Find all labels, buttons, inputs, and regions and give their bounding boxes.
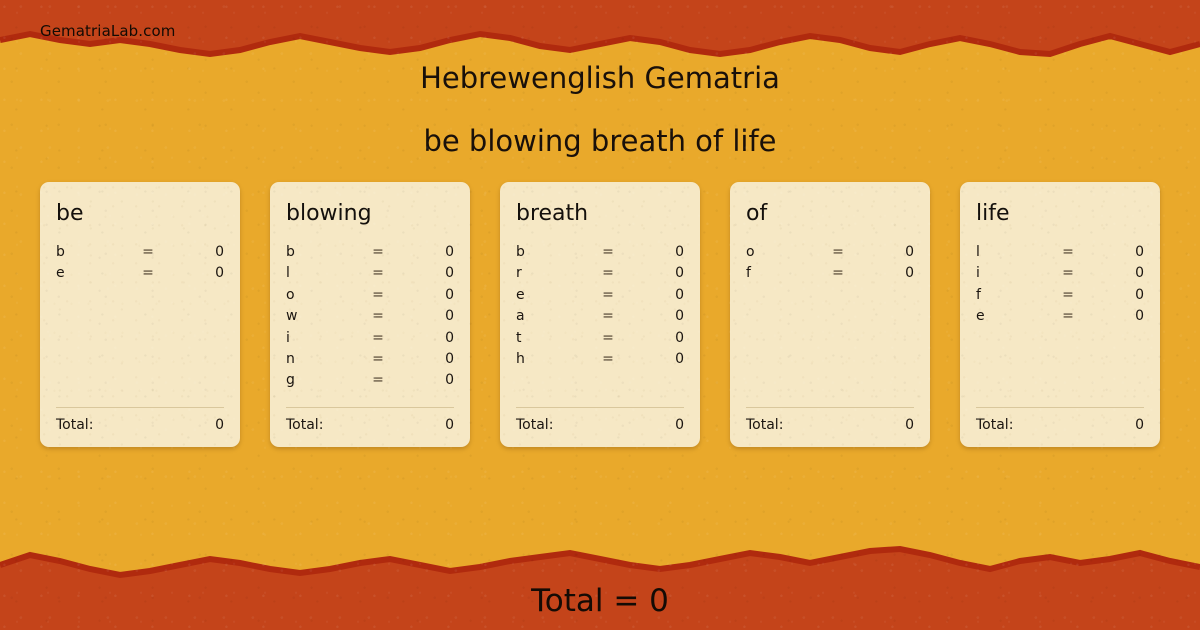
word-card[interactable]: be b = 0 e = 0 Total: 0 xyxy=(40,182,240,447)
letter-row: l = 0 xyxy=(976,244,1144,265)
letter-value: 0 xyxy=(392,244,454,260)
card-total-label: Total: xyxy=(286,417,445,433)
letter-char: a xyxy=(516,308,594,324)
card-word-title: of xyxy=(746,200,914,228)
letter-row: e = 0 xyxy=(976,308,1144,329)
letter-char: i xyxy=(286,330,364,346)
letter-value: 0 xyxy=(622,265,684,281)
card-word-title: blowing xyxy=(286,200,454,228)
letter-char: e xyxy=(516,287,594,303)
word-card[interactable]: breath b = 0 r = 0 e = 0 a = 0 xyxy=(500,182,700,447)
equals-sign: = xyxy=(594,265,622,281)
card-total-value: 0 xyxy=(445,417,454,433)
letter-value: 0 xyxy=(622,287,684,303)
letter-row: o = 0 xyxy=(746,244,914,265)
letter-value: 0 xyxy=(622,308,684,324)
word-card[interactable]: blowing b = 0 l = 0 o = 0 w = 0 xyxy=(270,182,470,447)
letter-row: t = 0 xyxy=(516,330,684,351)
card-divider xyxy=(56,407,224,408)
letter-value: 0 xyxy=(162,244,224,260)
equals-sign: = xyxy=(364,330,392,346)
letter-row: b = 0 xyxy=(286,244,454,265)
equals-sign: = xyxy=(364,308,392,324)
letter-value: 0 xyxy=(1082,308,1144,324)
card-total-row: Total: 0 xyxy=(976,417,1144,433)
letter-value: 0 xyxy=(392,265,454,281)
equals-sign: = xyxy=(134,244,162,260)
equals-sign: = xyxy=(824,265,852,281)
equals-sign: = xyxy=(824,244,852,260)
letter-value: 0 xyxy=(162,265,224,281)
grand-total: Total = 0 xyxy=(0,580,1200,622)
letter-char: o xyxy=(286,287,364,303)
letter-char: w xyxy=(286,308,364,324)
letter-row: f = 0 xyxy=(976,287,1144,308)
letter-row: i = 0 xyxy=(976,265,1144,286)
letter-value: 0 xyxy=(392,351,454,367)
letter-value: 0 xyxy=(1082,287,1144,303)
phrase-subtitle: be blowing breath of life xyxy=(0,119,1200,163)
card-total-label: Total: xyxy=(516,417,675,433)
equals-sign: = xyxy=(594,308,622,324)
letter-char: h xyxy=(516,351,594,367)
card-word-title: breath xyxy=(516,200,684,228)
page-title: Hebrewenglish Gematria xyxy=(0,56,1200,100)
letter-char: g xyxy=(286,372,364,388)
title-block: Hebrewenglish Gematria be blowing breath… xyxy=(0,56,1200,163)
letter-char: f xyxy=(746,265,824,281)
letter-row: b = 0 xyxy=(516,244,684,265)
equals-sign: = xyxy=(364,372,392,388)
equals-sign: = xyxy=(364,287,392,303)
letter-char: n xyxy=(286,351,364,367)
letter-value-list: b = 0 r = 0 e = 0 a = 0 t = 0 xyxy=(516,244,684,401)
letter-row: l = 0 xyxy=(286,265,454,286)
card-total-value: 0 xyxy=(675,417,684,433)
letter-value: 0 xyxy=(622,351,684,367)
card-divider xyxy=(516,407,684,408)
letter-value: 0 xyxy=(622,244,684,260)
card-total-label: Total: xyxy=(56,417,215,433)
card-word-title: life xyxy=(976,200,1144,228)
letter-char: l xyxy=(286,265,364,281)
letter-char: i xyxy=(976,265,1054,281)
letter-value: 0 xyxy=(1082,265,1144,281)
letter-row: e = 0 xyxy=(516,287,684,308)
card-total-value: 0 xyxy=(1135,417,1144,433)
word-card-row: be b = 0 e = 0 Total: 0 blowing b = xyxy=(40,182,1160,447)
letter-row: n = 0 xyxy=(286,351,454,372)
site-brand[interactable]: GematriaLab.com xyxy=(40,22,175,40)
card-total-row: Total: 0 xyxy=(516,417,684,433)
equals-sign: = xyxy=(594,351,622,367)
letter-char: r xyxy=(516,265,594,281)
letter-row: r = 0 xyxy=(516,265,684,286)
letter-row: i = 0 xyxy=(286,330,454,351)
equals-sign: = xyxy=(1054,265,1082,281)
letter-char: t xyxy=(516,330,594,346)
letter-char: b xyxy=(516,244,594,260)
card-word-title: be xyxy=(56,200,224,228)
card-total-row: Total: 0 xyxy=(286,417,454,433)
letter-value: 0 xyxy=(852,244,914,260)
card-total-row: Total: 0 xyxy=(56,417,224,433)
letter-value: 0 xyxy=(392,308,454,324)
letter-value: 0 xyxy=(852,265,914,281)
letter-value: 0 xyxy=(392,372,454,388)
letter-char: o xyxy=(746,244,824,260)
equals-sign: = xyxy=(594,330,622,346)
letter-value: 0 xyxy=(1082,244,1144,260)
card-total-value: 0 xyxy=(905,417,914,433)
equals-sign: = xyxy=(364,351,392,367)
letter-value-list: o = 0 f = 0 xyxy=(746,244,914,401)
letter-value: 0 xyxy=(392,287,454,303)
letter-row: g = 0 xyxy=(286,372,454,393)
letter-value-list: b = 0 e = 0 xyxy=(56,244,224,401)
equals-sign: = xyxy=(134,265,162,281)
letter-row: a = 0 xyxy=(516,308,684,329)
letter-row: e = 0 xyxy=(56,265,224,286)
equals-sign: = xyxy=(594,287,622,303)
equals-sign: = xyxy=(1054,308,1082,324)
word-card[interactable]: of o = 0 f = 0 Total: 0 xyxy=(730,182,930,447)
letter-char: f xyxy=(976,287,1054,303)
card-total-label: Total: xyxy=(746,417,905,433)
card-divider xyxy=(286,407,454,408)
letter-char: b xyxy=(56,244,134,260)
letter-value: 0 xyxy=(392,330,454,346)
equals-sign: = xyxy=(364,265,392,281)
card-total-label: Total: xyxy=(976,417,1135,433)
equals-sign: = xyxy=(364,244,392,260)
card-divider xyxy=(746,407,914,408)
card-total-value: 0 xyxy=(215,417,224,433)
equals-sign: = xyxy=(1054,244,1082,260)
letter-char: l xyxy=(976,244,1054,260)
letter-char: e xyxy=(976,308,1054,324)
letter-row: o = 0 xyxy=(286,287,454,308)
letter-value-list: l = 0 i = 0 f = 0 e = 0 xyxy=(976,244,1144,401)
letter-row: h = 0 xyxy=(516,351,684,372)
letter-char: e xyxy=(56,265,134,281)
card-total-row: Total: 0 xyxy=(746,417,914,433)
letter-row: b = 0 xyxy=(56,244,224,265)
letter-char: b xyxy=(286,244,364,260)
letter-row: w = 0 xyxy=(286,308,454,329)
word-card[interactable]: life l = 0 i = 0 f = 0 e = 0 xyxy=(960,182,1160,447)
equals-sign: = xyxy=(594,244,622,260)
card-divider xyxy=(976,407,1144,408)
letter-value: 0 xyxy=(622,330,684,346)
letter-row: f = 0 xyxy=(746,265,914,286)
equals-sign: = xyxy=(1054,287,1082,303)
letter-value-list: b = 0 l = 0 o = 0 w = 0 i = 0 xyxy=(286,244,454,401)
